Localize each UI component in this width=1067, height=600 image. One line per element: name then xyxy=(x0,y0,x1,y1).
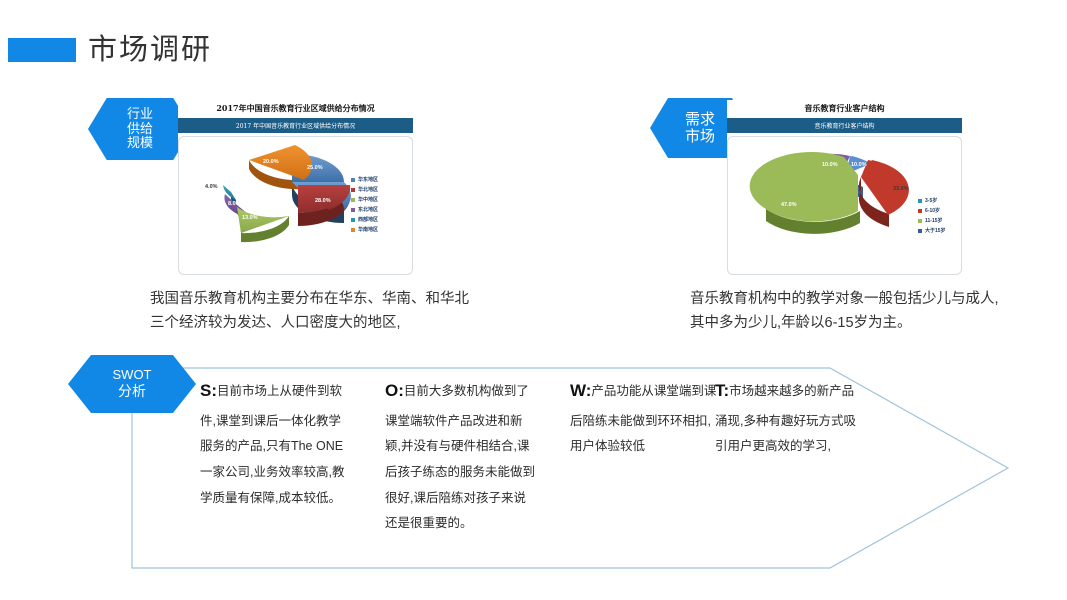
legend-swatch-icon xyxy=(351,198,355,202)
badge-industry-supply-scale: 行业 供给 规模 xyxy=(88,98,192,160)
legend-label: 西部地区 xyxy=(358,216,378,223)
legend-swatch-icon xyxy=(918,229,922,233)
badge-swot-analysis: SWOT 分析 xyxy=(68,355,196,413)
right-chart-subbar: 音乐教育行业客户结构 xyxy=(727,118,962,133)
right-pie-label-6-10: 33.0% xyxy=(893,186,909,192)
legend-swatch-icon xyxy=(351,188,355,192)
right-pie-label-11-15: 47.0% xyxy=(781,202,797,208)
legend-swatch-icon xyxy=(351,218,355,222)
swot-key-s: S: xyxy=(200,381,217,400)
swot-key-o: O: xyxy=(385,381,404,400)
legend-label: 6-10岁 xyxy=(925,207,940,214)
legend-swatch-icon xyxy=(918,199,922,203)
legend-label: 大于15岁 xyxy=(925,227,946,234)
swot-column-o: O:目前大多数机构做到了课堂端软件产品改进和新颖,并没有与硬件相结合,课后孩子练… xyxy=(385,374,535,537)
badge-line-1: 行业 xyxy=(127,107,153,122)
swot-text-w: 产品功能从课堂端到课后陪练未能做到环环相扣,用户体验较低 xyxy=(570,384,716,453)
legend-item: 华南地区 xyxy=(351,226,378,233)
right-chart-plot: 10.0% 10.0% 33.0% 47.0% 3-5岁 6-10岁 11-15… xyxy=(727,136,962,275)
left-pie-label-huabei: 28.0% xyxy=(315,198,331,204)
swot-column-w: W:产品功能从课堂端到课后陪练未能做到环环相扣,用户体验较低 xyxy=(570,374,720,460)
left-pie-label-huanan: 20.0% xyxy=(263,159,279,165)
legend-item: 3-5岁 xyxy=(918,197,946,204)
swot-column-s: S:目前市场上从硬件到软件,课堂到课后一体化教学服务的产品,只有The ONE一… xyxy=(200,374,350,511)
legend-swatch-icon xyxy=(918,209,922,213)
legend-swatch-icon xyxy=(351,208,355,212)
badge-line-1: 需求 xyxy=(685,111,715,128)
legend-label: 华南地区 xyxy=(358,226,378,233)
badge-line-2: 分析 xyxy=(118,383,146,399)
legend-item: 6-10岁 xyxy=(918,207,946,214)
left-chart-subbar: 2017 年中国音乐教育行业区域供给分布情况 xyxy=(178,118,413,133)
badge-line-2: 供给 xyxy=(127,122,153,137)
legend-label: 华北地区 xyxy=(358,186,378,193)
title-accent-bar xyxy=(8,38,76,62)
legend-item: 大于15岁 xyxy=(918,227,946,234)
legend-label: 东北地区 xyxy=(358,206,378,213)
slide-root: 市场调研 行业 供给 规模 需求 市场 2017年中国音乐教育行业区域供给分布情… xyxy=(0,0,1067,600)
legend-swatch-icon xyxy=(351,178,355,182)
legend-label: 3-5岁 xyxy=(925,197,937,204)
swot-text-t: 市场越来越多的新产品涌现,多种有趣好玩方式吸引用户更高效的学习, xyxy=(715,384,856,453)
swot-column-t: T:市场越来越多的新产品涌现,多种有趣好玩方式吸引用户更高效的学习, xyxy=(715,374,865,460)
badge-line-2: 市场 xyxy=(685,128,715,145)
left-chart-caption: 我国音乐教育机构主要分布在华东、华南、和华北三个经济较为发达、人口密度大的地区, xyxy=(150,288,480,336)
legend-item: 华北地区 xyxy=(351,186,378,193)
legend-label: 华中地区 xyxy=(358,196,378,203)
right-chart-title: 音乐教育行业客户结构 xyxy=(727,100,962,114)
left-chart-legend: 华东地区 华北地区 华中地区 东北地区 西部地区 xyxy=(351,176,378,233)
page-title: 市场调研 xyxy=(88,26,212,68)
badge-line-3: 规模 xyxy=(127,136,153,151)
legend-item: 西部地区 xyxy=(351,216,378,223)
left-pie-label-huazhong: 13.0% xyxy=(242,215,258,221)
swot-text-o: 目前大多数机构做到了课堂端软件产品改进和新颖,并没有与硬件相结合,课后孩子练态的… xyxy=(385,384,535,530)
left-pie-label-xibu: 4.0% xyxy=(205,184,218,190)
right-chart-legend: 3-5岁 6-10岁 11-15岁 大于15岁 xyxy=(918,197,946,234)
left-pie-label-huadong: 25.0% xyxy=(307,165,323,171)
left-chart-card: 2017年中国音乐教育行业区域供给分布情况 2017 年中国音乐教育行业区域供给… xyxy=(178,100,413,278)
badge-line-1: SWOT xyxy=(113,368,152,383)
legend-item: 11-15岁 xyxy=(918,217,946,224)
legend-item: 东北地区 xyxy=(351,206,378,213)
right-pie-label-3-5: 10.0% xyxy=(851,162,867,168)
legend-item: 华中地区 xyxy=(351,196,378,203)
left-pie-label-dongbei: 8.0% xyxy=(228,201,241,207)
swot-key-t: T: xyxy=(715,381,729,400)
right-pie-label-da-yu-15: 10.0% xyxy=(822,162,838,168)
right-chart-card: 音乐教育行业客户结构 音乐教育行业客户结构 xyxy=(727,100,962,278)
legend-swatch-icon xyxy=(351,228,355,232)
left-chart-plot: 25.0% 28.0% 13.0% 8.0% 4.0% 20.0% 华东地区 华… xyxy=(178,136,413,275)
legend-swatch-icon xyxy=(918,219,922,223)
right-chart-caption: 音乐教育机构中的教学对象一般包括少儿与成人,其中多为少儿,年龄以6-15岁为主。 xyxy=(690,288,1010,336)
swot-key-w: W: xyxy=(570,381,591,400)
swot-text-s: 目前市场上从硬件到软件,课堂到课后一体化教学服务的产品,只有The ONE一家公… xyxy=(200,384,344,505)
legend-item: 华东地区 xyxy=(351,176,378,183)
left-chart-title: 2017年中国音乐教育行业区域供给分布情况 xyxy=(178,100,413,114)
legend-label: 华东地区 xyxy=(358,176,378,183)
legend-label: 11-15岁 xyxy=(925,217,943,224)
